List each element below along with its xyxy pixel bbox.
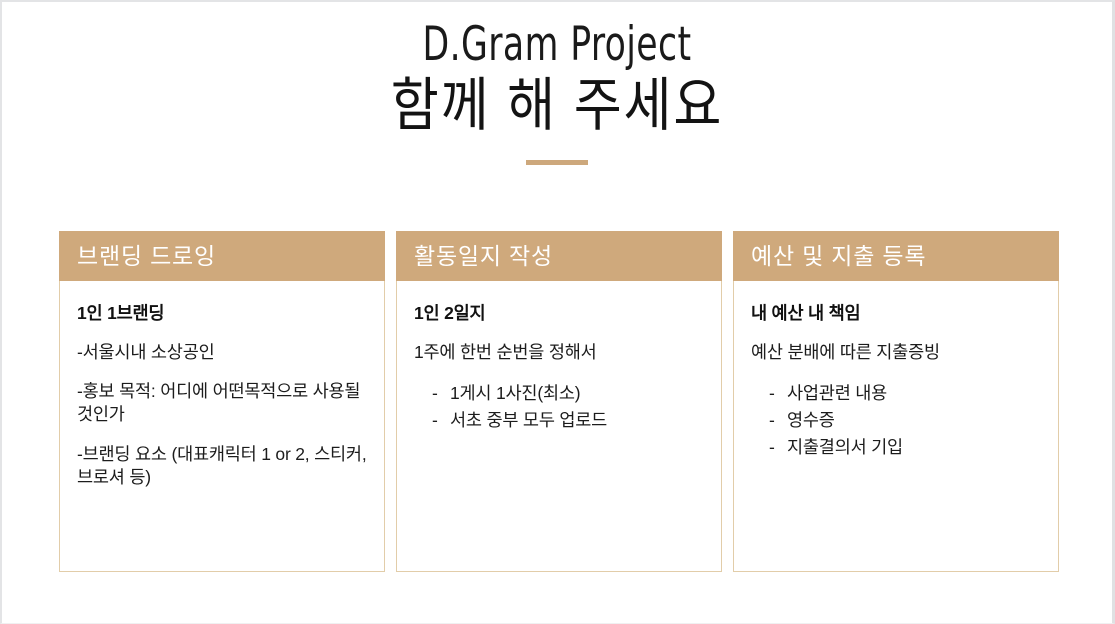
card-body: 1인 2일지 1주에 한번 순번을 정해서 - 1게시 1사진(최소) - 서초… bbox=[397, 281, 721, 571]
card-paragraph: -홍보 목적: 어디에 어떤목적으로 사용될 것인가 bbox=[77, 380, 368, 427]
list-item-label: 사업관련 내용 bbox=[787, 380, 1042, 407]
card-body: 내 예산 내 책임 예산 분배에 따른 지출증빙 - 사업관련 내용 - 영수증… bbox=[734, 281, 1058, 571]
card-branding-drawing: 브랜딩 드로잉 1인 1브랜딩 -서울시내 소상공인 -홍보 목적: 어디에 어… bbox=[59, 231, 385, 572]
card-row: 브랜딩 드로잉 1인 1브랜딩 -서울시내 소상공인 -홍보 목적: 어디에 어… bbox=[59, 231, 1059, 572]
title-block: D.Gram Project 함께 해 주세요 bbox=[2, 20, 1112, 165]
card-activity-log: 활동일지 작성 1인 2일지 1주에 한번 순번을 정해서 - 1게시 1사진(… bbox=[396, 231, 722, 572]
bullet-dash-icon: - bbox=[414, 407, 450, 434]
card-bullet-list: - 사업관련 내용 - 영수증 - 지출결의서 기입 bbox=[751, 380, 1042, 461]
bullet-dash-icon: - bbox=[751, 407, 787, 434]
list-item-label: 1게시 1사진(최소) bbox=[450, 380, 705, 407]
card-header-title: 예산 및 지출 등록 bbox=[751, 245, 926, 268]
list-item: - 지출결의서 기입 bbox=[751, 434, 1042, 461]
card-header-bar: 활동일지 작성 bbox=[396, 231, 722, 281]
list-item-label: 지출결의서 기입 bbox=[787, 434, 1042, 461]
card-budget-expense: 예산 및 지출 등록 내 예산 내 책임 예산 분배에 따른 지출증빙 - 사업… bbox=[733, 231, 1059, 572]
bullet-dash-icon: - bbox=[414, 380, 450, 407]
card-lede: 내 예산 내 책임 bbox=[751, 303, 1042, 325]
list-item: - 서초 중부 모두 업로드 bbox=[414, 407, 705, 434]
list-item-label: 서초 중부 모두 업로드 bbox=[450, 407, 705, 434]
card-paragraph: 1주에 한번 순번을 정해서 bbox=[414, 341, 705, 364]
card-paragraph: -서울시내 소상공인 bbox=[77, 341, 368, 364]
page-title-english: D.Gram Project bbox=[102, 20, 1012, 71]
list-item-label: 영수증 bbox=[787, 407, 1042, 434]
card-header-title: 활동일지 작성 bbox=[414, 245, 553, 268]
bullet-dash-icon: - bbox=[751, 380, 787, 407]
card-header-bar: 브랜딩 드로잉 bbox=[59, 231, 385, 281]
card-lede: 1인 1브랜딩 bbox=[77, 303, 368, 325]
card-bullet-list: - 1게시 1사진(최소) - 서초 중부 모두 업로드 bbox=[414, 380, 705, 434]
page-title-korean: 함께 해 주세요 bbox=[58, 73, 1057, 138]
card-lede: 1인 2일지 bbox=[414, 303, 705, 325]
card-header-bar: 예산 및 지출 등록 bbox=[733, 231, 1059, 281]
list-item: - 영수증 bbox=[751, 407, 1042, 434]
card-paragraph: -브랜딩 요소 (대표캐릭터 1 or 2, 스티커, 브로셔 등) bbox=[77, 443, 368, 490]
title-divider bbox=[526, 160, 588, 165]
bullet-dash-icon: - bbox=[751, 434, 787, 461]
list-item: - 사업관련 내용 bbox=[751, 380, 1042, 407]
card-header-title: 브랜딩 드로잉 bbox=[77, 245, 216, 268]
card-paragraph: 예산 분배에 따른 지출증빙 bbox=[751, 341, 1042, 364]
list-item: - 1게시 1사진(최소) bbox=[414, 380, 705, 407]
slide-canvas: D.Gram Project 함께 해 주세요 브랜딩 드로잉 1인 1브랜딩 … bbox=[0, 0, 1115, 624]
card-body: 1인 1브랜딩 -서울시내 소상공인 -홍보 목적: 어디에 어떤목적으로 사용… bbox=[60, 281, 384, 571]
